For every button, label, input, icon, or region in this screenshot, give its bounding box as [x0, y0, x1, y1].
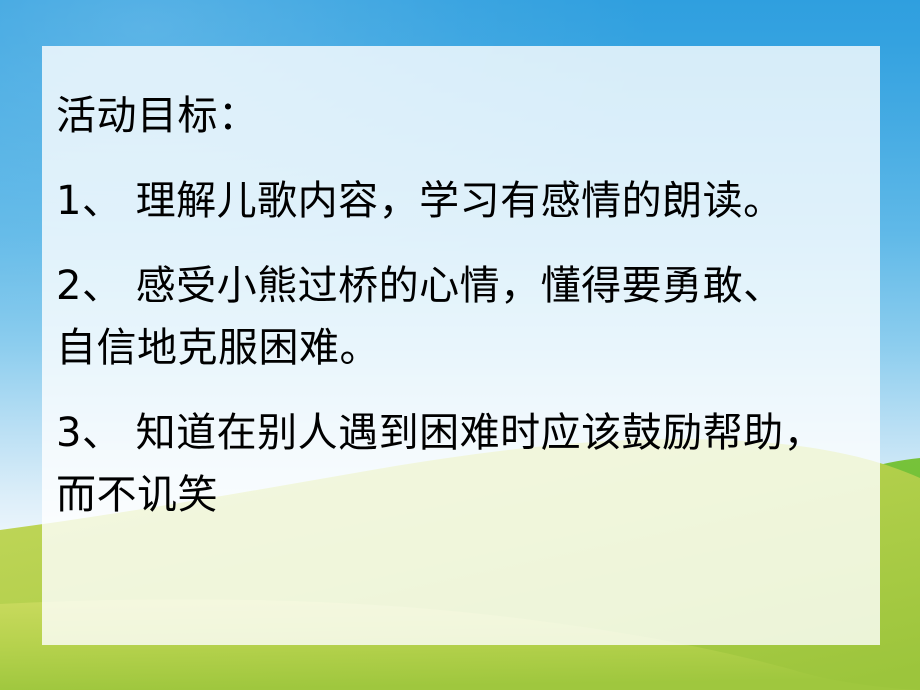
content-text-box: 活动目标： 1、 理解儿歌内容，学习有感情的朗读。 2、 感受小熊过桥的心情，懂…	[42, 46, 880, 645]
objective-item-2-cont: 自信地克服困难。	[50, 328, 880, 368]
slide: 活动目标： 1、 理解儿歌内容，学习有感情的朗读。 2、 感受小熊过桥的心情，懂…	[0, 0, 920, 690]
objective-item-3-cont: 而不讥笑	[50, 475, 880, 515]
objective-item-1: 1、 理解儿歌内容，学习有感情的朗读。	[50, 181, 880, 221]
objectives-list: 活动目标： 1、 理解儿歌内容，学习有感情的朗读。 2、 感受小熊过桥的心情，懂…	[50, 96, 880, 515]
objectives-heading: 活动目标：	[50, 96, 880, 136]
objective-item-2: 2、 感受小熊过桥的心情，懂得要勇敢、	[50, 266, 880, 306]
objective-item-3: 3、 知道在别人遇到困难时应该鼓励帮助，	[50, 413, 880, 453]
